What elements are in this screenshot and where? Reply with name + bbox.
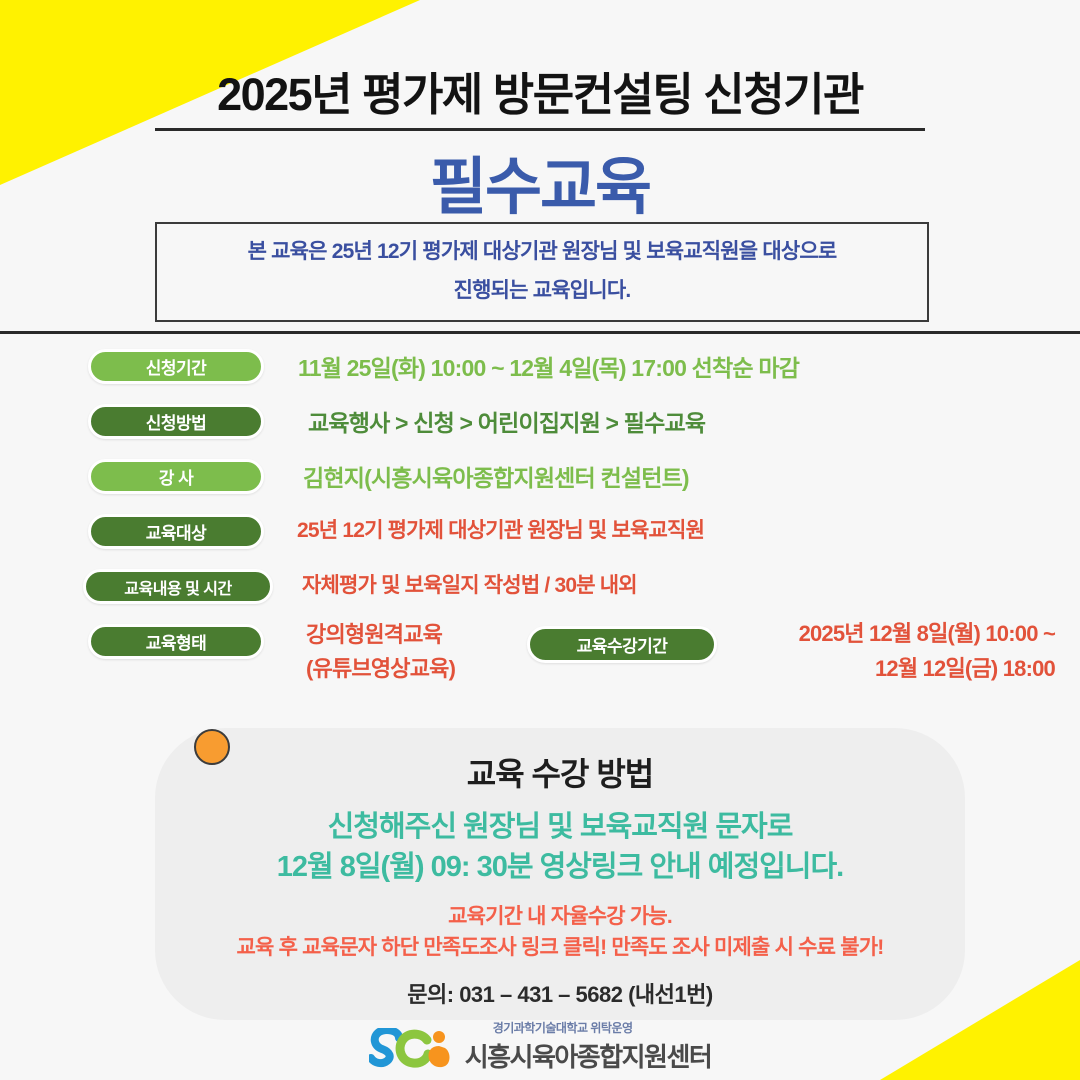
info-rows-list: 신청기간 11월 25일(화) 10:00 ~ 12월 4일(목) 17:00 … [0,345,1080,720]
course-period-line: 2025년 12월 8일(월) 10:00 ~ [735,616,1055,651]
notice-box: 본 교육은 25년 12기 평가제 대상기관 원장님 및 보육교직원을 대상으로… [155,222,929,322]
row-value: 자체평가 및 보육일지 작성법 / 30분 내외 [302,569,637,599]
logo-organization-name: 시흥시육아종합지원센터 [465,1037,712,1074]
info-row-education-format: 교육형태 강의형원격교육 (유튜브영상교육) 교육수강기간 2025년 12월 … [0,620,1080,720]
course-period-pill: 교육수강기간 [527,626,717,663]
info-row-content-and-duration: 교육내용 및 시간 자체평가 및 보육일지 작성법 / 30분 내외 [0,565,1080,620]
section-divider [0,331,1080,334]
row-value: 교육행사 > 신청 > 어린이집지원 > 필수교육 [308,404,705,438]
page-title: 2025년 평가제 방문컨설팅 신청기관 [0,58,1080,123]
contact-info: 문의: 031 – 431 – 5682 (내선1번) [155,977,965,1009]
sc-logo-icon [369,1028,455,1076]
format-value-line: (유튜브영상교육) [306,652,455,686]
row-label-pill: 교육대상 [88,514,264,549]
info-row-application-method: 신청방법 교육행사 > 신청 > 어린이집지원 > 필수교육 [0,400,1080,455]
format-value: 강의형원격교육 (유튜브영상교육) [306,618,455,686]
howto-warning-line: 교육기간 내 자율수강 가능. [155,900,965,930]
howto-warning-line: 교육 후 교육문자 하단 만족도조사 링크 클릭! 만족도 조사 미제출 시 수… [155,931,965,961]
info-row-instructor: 강 사 김현지(시흥시육아종합지원센터 컨설턴트) [0,455,1080,510]
info-row-application-period: 신청기간 11월 25일(화) 10:00 ~ 12월 4일(목) 17:00 … [0,345,1080,400]
row-label-pill: 교육내용 및 시간 [83,569,273,604]
row-value: 11월 25일(화) 10:00 ~ 12월 4일(목) 17:00 선착순 마… [298,349,799,383]
course-period-value: 2025년 12월 8일(월) 10:00 ~ 12월 12일(금) 18:00 [735,616,1055,686]
row-value: 김현지(시흥시육아종합지원센터 컨설턴트) [303,459,689,493]
title-divider [155,128,925,131]
headline-text: 필수교육 [0,136,1080,226]
info-row-target-audience: 교육대상 25년 12기 평가제 대상기관 원장님 및 보육교직원 [0,510,1080,565]
row-label-pill: 강 사 [88,459,264,494]
howto-title: 교육 수강 방법 [155,749,965,795]
notice-line: 본 교육은 25년 12기 평가제 대상기관 원장님 및 보육교직원을 대상으로 [248,233,837,272]
course-period-line: 12월 12일(금) 18:00 [735,651,1055,686]
poster-canvas: 2025년 평가제 방문컨설팅 신청기관 필수교육 본 교육은 25년 12기 … [0,0,1080,1080]
row-label-pill: 교육형태 [88,624,264,659]
logo-text-group: 경기과학기술대학교 위탁운영 시흥시육아종합지원센터 [465,1019,712,1076]
logo-subtitle: 경기과학기술대학교 위탁운영 [493,1019,633,1036]
howto-teal-line: 12월 8일(월) 09: 30분 영상링크 안내 예정입니다. [155,843,965,885]
row-label-pill: 신청기간 [88,349,264,384]
notice-line: 진행되는 교육입니다. [454,272,631,311]
row-value: 25년 12기 평가제 대상기관 원장님 및 보육교직원 [297,514,704,544]
howto-teal-line: 신청해주신 원장님 및 보육교직원 문자로 [155,803,965,845]
format-value-line: 강의형원격교육 [306,618,455,652]
organization-logo: 경기과학기술대학교 위탁운영 시흥시육아종합지원센터 [369,1019,712,1076]
row-label-pill: 신청방법 [88,404,264,439]
footer: 경기과학기술대학교 위탁운영 시흥시육아종합지원센터 [0,1019,1080,1076]
